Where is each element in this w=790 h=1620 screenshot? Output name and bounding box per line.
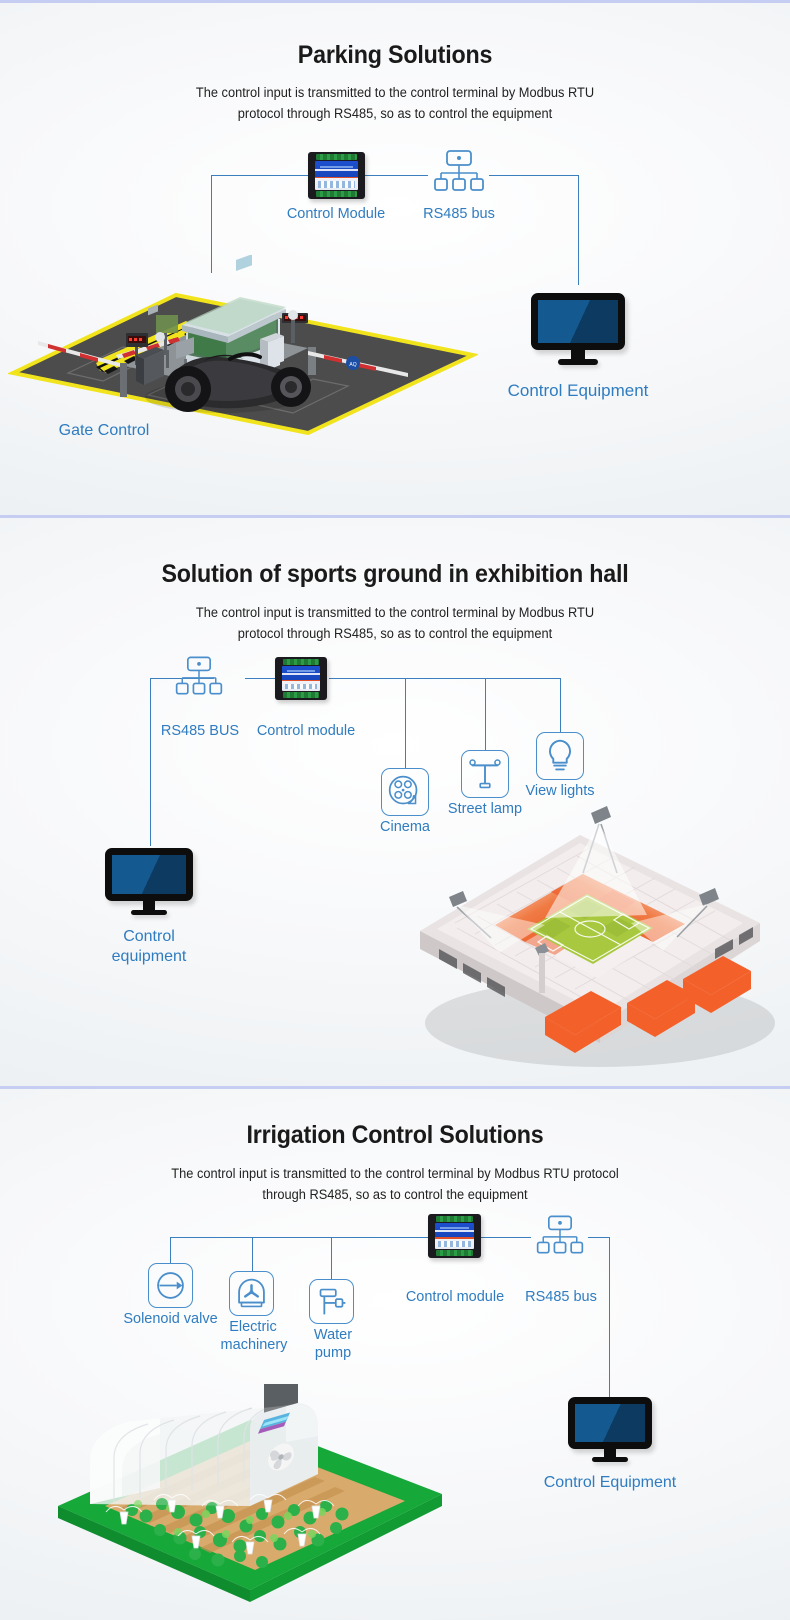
label-electric-machinery-line2: machinery (205, 1337, 303, 1354)
control-module-device[interactable] (308, 152, 365, 199)
connector-line (489, 175, 579, 176)
connector-line (150, 678, 151, 846)
connector-line (578, 175, 579, 285)
section-subtitle-line2: through RS485, so as to control the equi… (20, 1185, 771, 1205)
connector-line (560, 678, 561, 732)
label-control-module: Control Module (260, 206, 412, 223)
module-pcb (435, 1223, 474, 1249)
section-parking: Parking Solutions The control input is t… (0, 3, 790, 515)
monitor-base (131, 910, 168, 915)
water-pump-icon[interactable] (309, 1279, 354, 1324)
terminal-block-top (436, 1216, 473, 1222)
rs485-bus-icon[interactable] (172, 655, 226, 697)
terminal-block-top (283, 659, 319, 665)
module-pcb (282, 666, 320, 691)
monitor-screen (105, 848, 193, 901)
connector-line (365, 175, 428, 176)
label-gate-control: Gate Control (24, 422, 184, 440)
label-water-pump-line1: Water (298, 1327, 368, 1344)
terminal-block-bottom (283, 692, 319, 698)
terminal-block-bottom (436, 1250, 473, 1256)
section-sports-ground: Solution of sports ground in exhibition … (0, 518, 790, 1086)
terminal-block-bottom (316, 191, 357, 197)
connector-line (245, 678, 277, 679)
page-title: Parking Solutions (28, 41, 763, 70)
connector-line (481, 1237, 531, 1238)
section-subtitle-line2: protocol through RS485, so as to control… (20, 104, 771, 124)
page-title: Solution of sports ground in exhibition … (28, 560, 763, 589)
rs485-bus-icon[interactable] (430, 149, 488, 193)
connector-line (609, 1237, 610, 1397)
label-control-equipment-line2: equipment (79, 948, 219, 966)
monitor-icon[interactable] (568, 1397, 652, 1467)
label-control-equipment-line1: Control (79, 928, 219, 946)
label-control-module: Control module (389, 1289, 521, 1306)
label-rs485-bus: RS485 bus (506, 1289, 616, 1306)
section-subtitle-line2: protocol through RS485, so as to control… (20, 624, 771, 644)
page-title: Irrigation Control Solutions (28, 1121, 763, 1150)
monitor-icon[interactable] (105, 848, 193, 920)
parking-lot-illustration: AQ (8, 255, 478, 435)
label-control-equipment: Control Equipment (468, 381, 688, 401)
greenhouse-illustration (50, 1384, 450, 1614)
monitor-icon[interactable] (531, 293, 625, 370)
connector-line (588, 1237, 609, 1238)
section-subtitle-line1: The control input is transmitted to the … (20, 603, 771, 623)
motor-icon[interactable] (229, 1271, 274, 1316)
section-subtitle-line1: The control input is transmitted to the … (20, 1164, 771, 1184)
monitor-screen (568, 1397, 652, 1449)
rs485-bus-icon[interactable] (533, 1214, 587, 1256)
monitor-neck (571, 350, 584, 359)
label-control-module: Control module (236, 723, 376, 740)
connector-line (252, 1237, 253, 1271)
section-irrigation: Irrigation Control Solutions The control… (0, 1089, 790, 1620)
monitor-screen (531, 293, 625, 350)
label-control-equipment: Control Equipment (500, 1474, 720, 1492)
monitor-neck (143, 901, 155, 910)
control-module-device[interactable] (428, 1214, 481, 1258)
monitor-base (558, 359, 597, 364)
monitor-base (592, 1457, 627, 1462)
label-rs485-bus: RS485 bus (399, 206, 519, 223)
stadium-illustration (395, 773, 785, 1073)
terminal-block-top (316, 154, 357, 160)
connector-line (170, 1237, 428, 1238)
label-electric-machinery-line1: Electric (211, 1319, 295, 1336)
control-module-device[interactable] (275, 657, 327, 700)
label-water-pump-line2: pump (298, 1345, 368, 1362)
connector-line (211, 175, 311, 176)
monitor-neck (604, 1449, 616, 1457)
section-subtitle-line1: The control input is transmitted to the … (20, 83, 771, 103)
connector-line (405, 678, 406, 768)
connector-line (170, 1237, 171, 1263)
page-root: Parking Solutions The control input is t… (0, 0, 790, 1620)
module-pcb (315, 161, 358, 190)
valve-icon[interactable] (148, 1263, 193, 1308)
connector-line (331, 1237, 332, 1279)
connector-line (485, 678, 486, 750)
connector-line (329, 678, 561, 679)
svg-text:AQ: AQ (349, 362, 356, 368)
